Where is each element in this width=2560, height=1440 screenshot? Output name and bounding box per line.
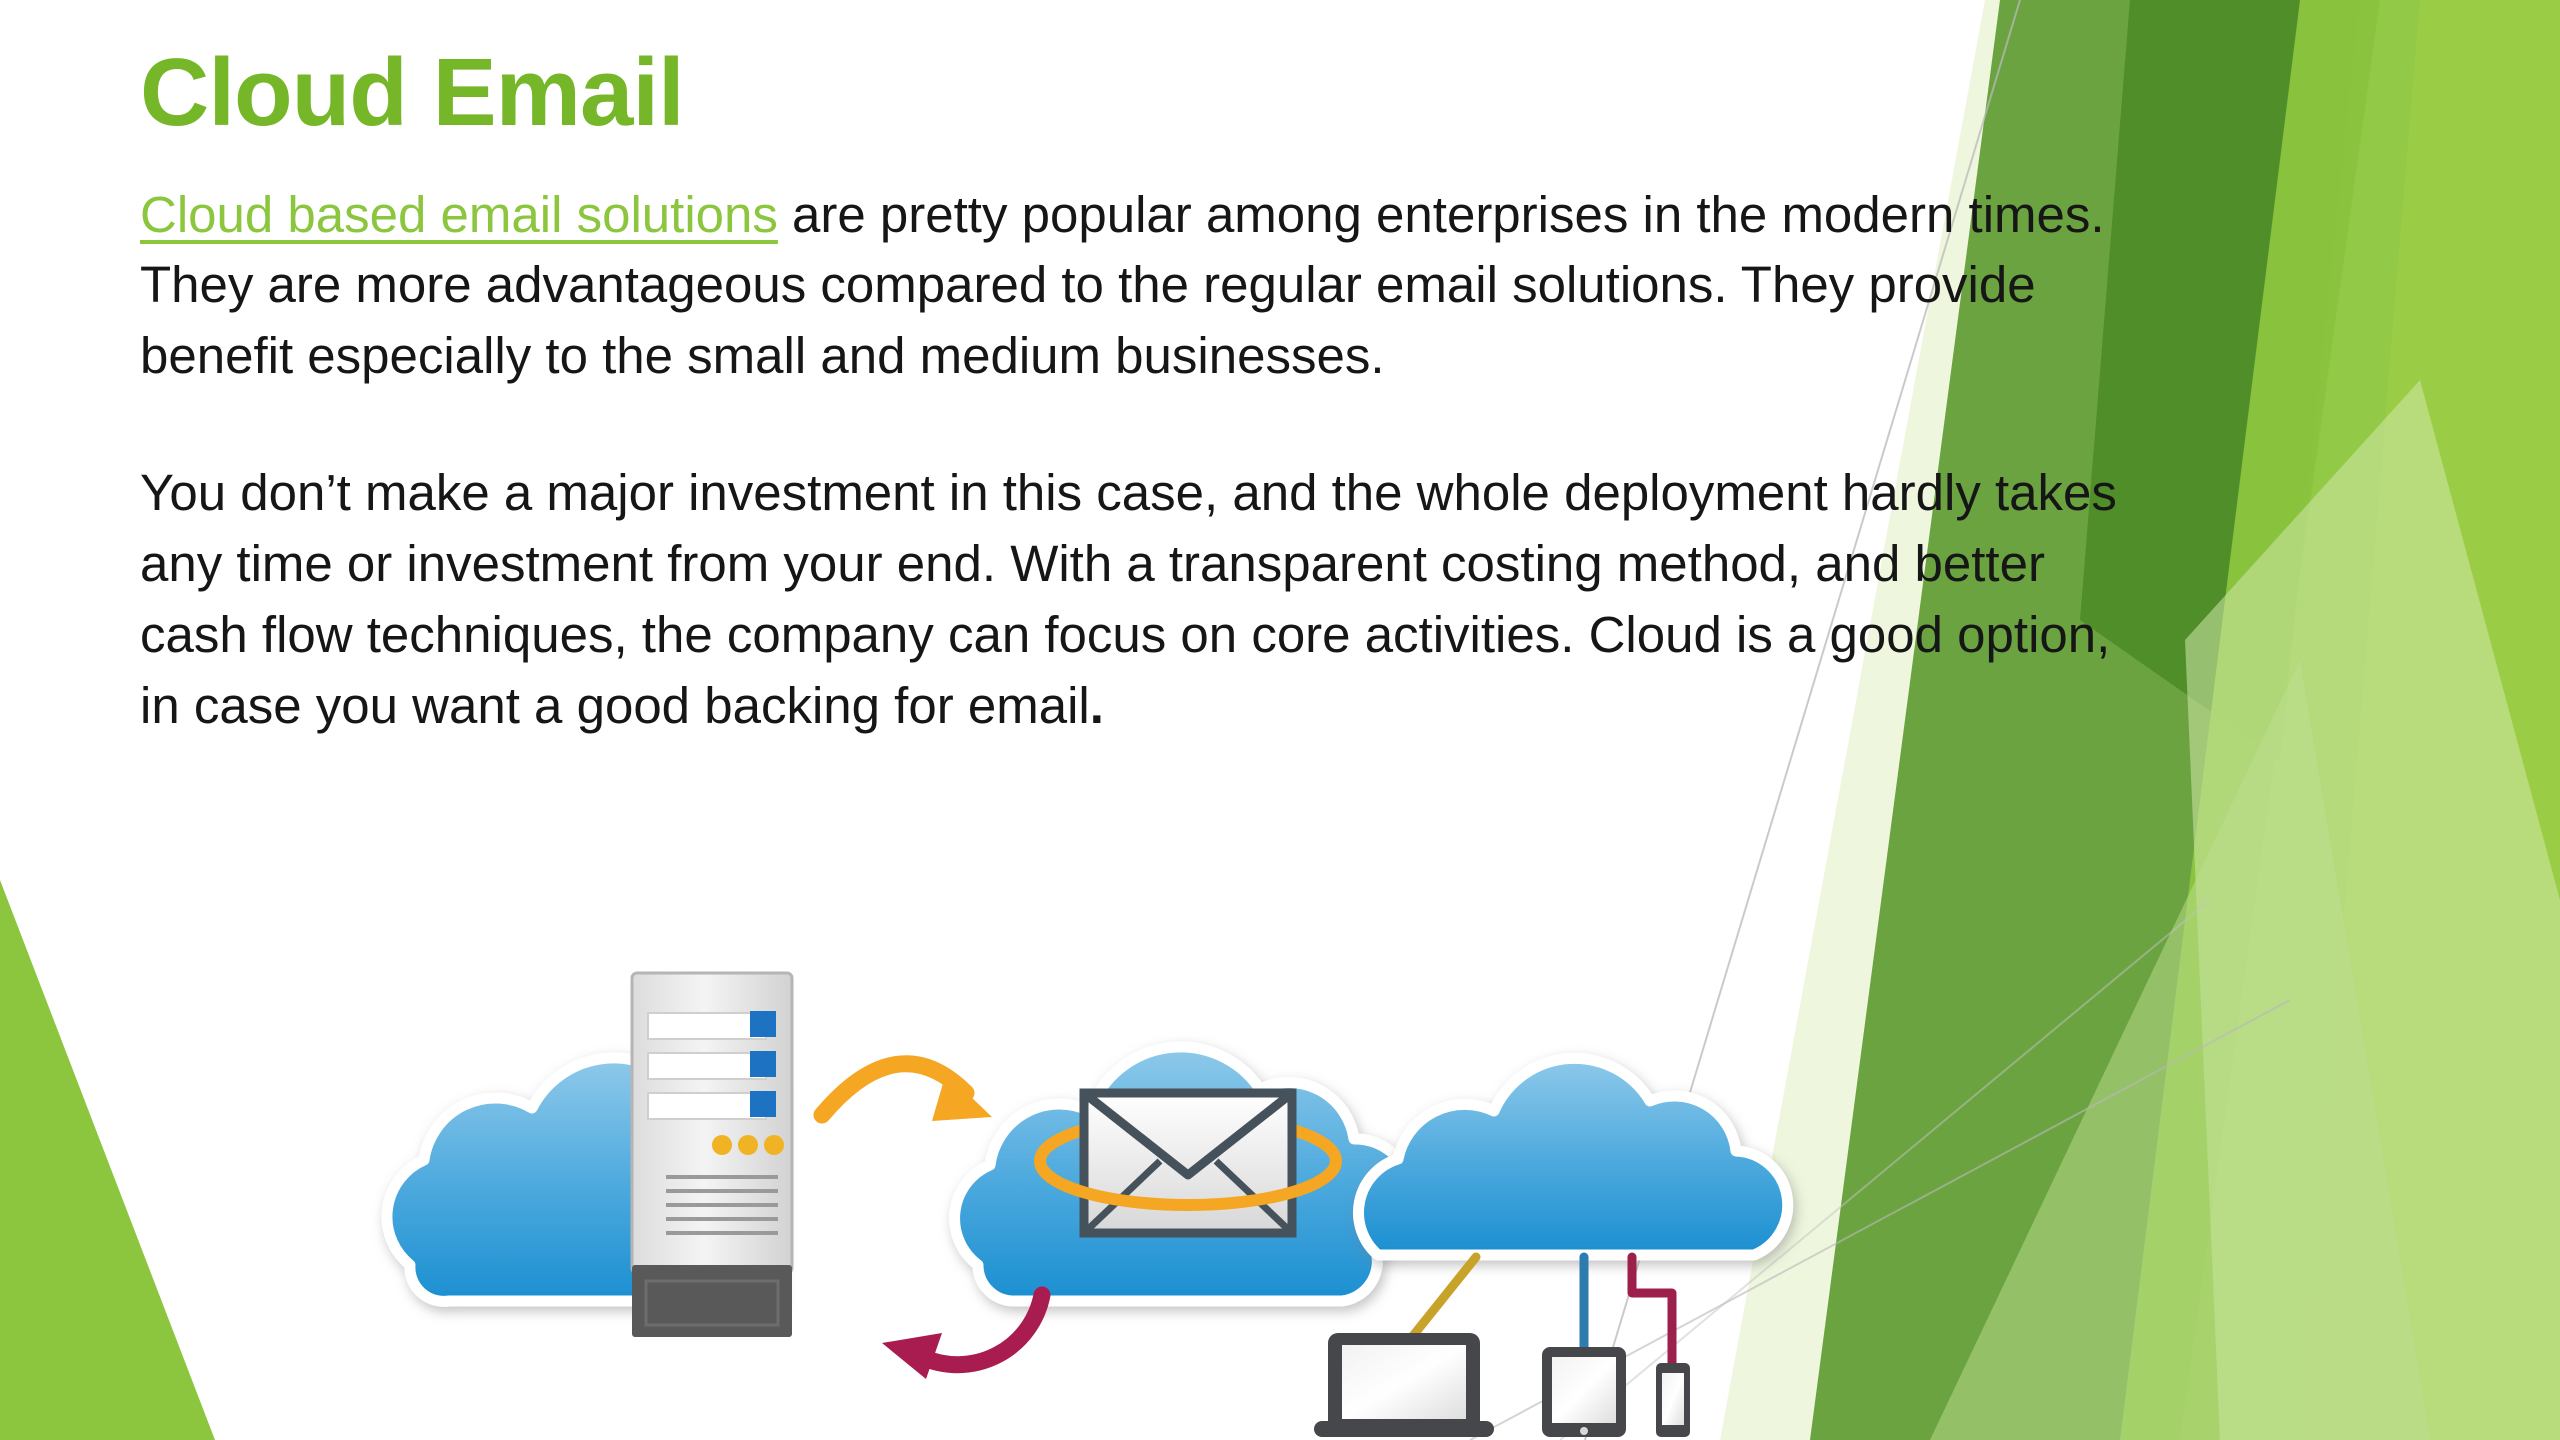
- smartphone-icon: [1656, 1363, 1690, 1437]
- phone-screen: [1662, 1373, 1684, 1425]
- server-rack: [632, 973, 792, 1337]
- server-led-amber-3: [764, 1135, 784, 1155]
- deco-shape-right-mid-1: [2120, 0, 2560, 1440]
- deco-shape-right-mid-2: [2300, 0, 2560, 1440]
- server-led-blue-2: [750, 1051, 776, 1077]
- server-line-4: [666, 1217, 778, 1221]
- right-cloud-shape: [1358, 1058, 1787, 1255]
- laptop-base: [1314, 1421, 1494, 1437]
- cable-yellow-laptop: [1412, 1257, 1476, 1337]
- envelope-icon: [1084, 1093, 1292, 1233]
- paragraph-2: You don’t make a major investment in thi…: [140, 458, 2130, 742]
- laptop-icon: [1314, 1333, 1494, 1437]
- center-cloud-with-envelope: [955, 1047, 1413, 1301]
- page-title: Cloud Email: [140, 40, 2170, 146]
- orange-arrow-right: [822, 1064, 992, 1121]
- server-led-amber-2: [738, 1135, 758, 1155]
- crimson-arrow-head: [882, 1333, 942, 1379]
- server-bay-1: [648, 1013, 766, 1039]
- cable-crimson-phone: [1632, 1257, 1672, 1363]
- right-cloud-with-devices: [1358, 1058, 1787, 1255]
- server-line-5: [666, 1231, 778, 1235]
- paragraph-1: Cloud based email solutions are pretty p…: [140, 180, 2130, 393]
- slide-body: Cloud based email solutions are pretty p…: [140, 180, 2130, 742]
- deco-shape-right-pale-2: [2185, 380, 2560, 1440]
- tablet-home-button: [1580, 1427, 1588, 1435]
- paragraph-spacer: [140, 392, 2130, 458]
- server-line-2: [666, 1189, 778, 1193]
- tablet-screen: [1552, 1357, 1616, 1423]
- server-bay-2: [648, 1053, 766, 1079]
- cloud-email-illustration: [370, 965, 1820, 1440]
- cloud-email-diagram: [370, 965, 1820, 1440]
- server-line-1: [666, 1175, 778, 1179]
- server-led-amber-1: [712, 1135, 732, 1155]
- crimson-arrow-left: [882, 1295, 1042, 1379]
- slide-content: Cloud Email Cloud based email solutions …: [140, 40, 2170, 742]
- slide: Cloud Email Cloud based email solutions …: [0, 0, 2560, 1440]
- server-bay-3: [648, 1093, 766, 1119]
- tablet-icon: [1542, 1347, 1626, 1437]
- paragraph-2-trailing-period: .: [1090, 677, 1104, 734]
- cloud-based-email-solutions-link[interactable]: Cloud based email solutions: [140, 186, 778, 243]
- server-led-blue-3: [750, 1091, 776, 1117]
- laptop-screen: [1342, 1345, 1466, 1419]
- deco-shape-right-pale-3: [1930, 660, 2430, 1440]
- left-cloud-with-server: [387, 973, 792, 1337]
- server-line-3: [666, 1203, 778, 1207]
- deco-shape-bottom-left: [0, 880, 215, 1440]
- paragraph-2-text: You don’t make a major investment in thi…: [140, 464, 2117, 734]
- server-led-blue-1: [750, 1011, 776, 1037]
